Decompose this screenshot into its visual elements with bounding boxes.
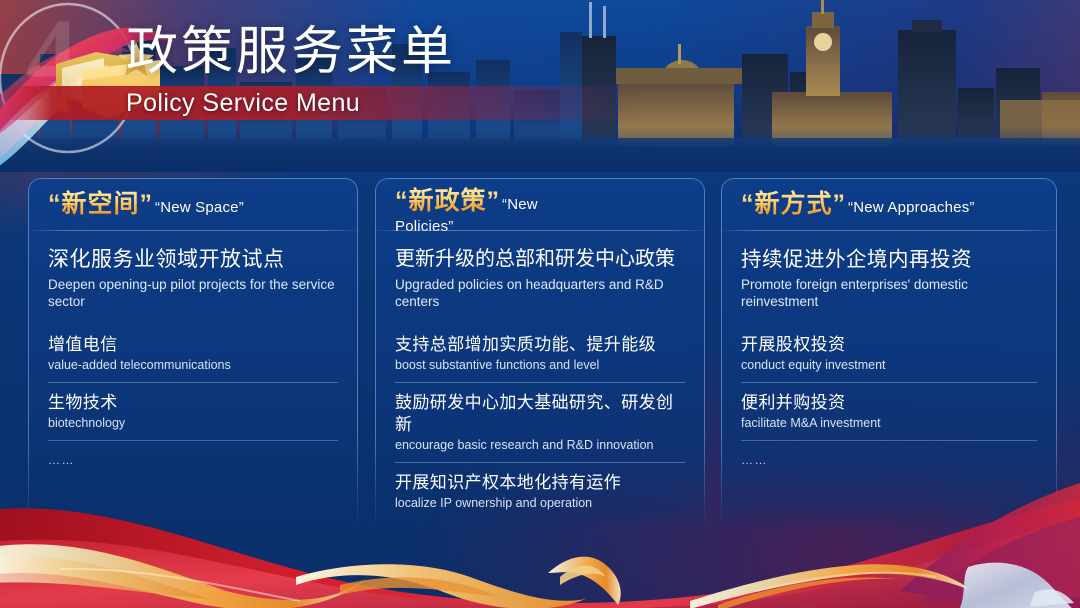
list-item-en: facilitate M&A investment — [741, 415, 1037, 431]
list-item-cn: 便利并购投资 — [741, 392, 1037, 414]
card-header-divider — [721, 230, 1057, 231]
list-item-en: encourage basic research and R&D innovat… — [395, 437, 685, 453]
card-lead-en: Promote foreign enterprises' domestic re… — [741, 276, 1037, 310]
header-banner: 4 — [0, 0, 1080, 172]
list-item-cn: 鼓励研发中心加大基础研究、研发创新 — [395, 392, 685, 436]
card-title-en: “New Approaches” — [848, 199, 975, 216]
list-item-cn: 生物技术 — [48, 392, 338, 414]
card-lead-cn: 更新升级的总部和研发中心政策 — [395, 246, 685, 273]
card-title-en: “New Space” — [155, 199, 244, 216]
card-header: “新空间”“New Space” — [28, 178, 358, 230]
card-lead-en: Upgraded policies on headquarters and R&… — [395, 276, 685, 310]
list-item-cn: 支持总部增加实质功能、提升能级 — [395, 334, 685, 356]
card-title-cn: “新空间” — [48, 190, 153, 218]
silk-ribbon-decoration — [0, 473, 1080, 608]
list-item-cn: 增值电信 — [48, 334, 338, 356]
list-item-cn: 开展股权投资 — [741, 334, 1037, 356]
slide-title-en: Policy Service Menu — [126, 88, 360, 119]
list-item[interactable]: 便利并购投资 facilitate M&A investment — [741, 382, 1037, 440]
card-header-divider — [28, 230, 358, 231]
card-lead-cn: 深化服务业领域开放试点 — [48, 246, 338, 273]
card-body: 持续促进外企境内再投资 Promote foreign enterprises'… — [721, 230, 1057, 469]
presentation-slide: 4 — [0, 0, 1080, 608]
list-ellipsis-row: …… — [48, 440, 338, 469]
list-item[interactable]: 支持总部增加实质功能、提升能级 boost substantive functi… — [395, 334, 685, 382]
slide-title-cn: 政策服务菜单 — [126, 22, 456, 82]
list-ellipsis: …… — [48, 453, 75, 467]
card-body: 深化服务业领域开放试点 Deepen opening-up pilot proj… — [28, 230, 358, 469]
card-item-list: 开展股权投资 conduct equity investment 便利并购投资 … — [741, 334, 1037, 469]
list-item-en: value-added telecommunications — [48, 357, 338, 373]
card-title-cn: “新政策” — [395, 187, 500, 215]
card-header-divider — [375, 230, 705, 231]
list-item[interactable]: 生物技术 biotechnology — [48, 382, 338, 440]
list-item-en: boost substantive functions and level — [395, 357, 685, 373]
list-item[interactable]: 增值电信 value-added telecommunications — [48, 334, 338, 382]
card-item-list: 增值电信 value-added telecommunications 生物技术… — [48, 334, 338, 469]
list-item-en: conduct equity investment — [741, 357, 1037, 373]
list-item-en: biotechnology — [48, 415, 338, 431]
list-item[interactable]: 开展股权投资 conduct equity investment — [741, 334, 1037, 382]
list-ellipsis: …… — [741, 453, 768, 467]
card-lead-en: Deepen opening-up pilot projects for the… — [48, 276, 338, 310]
list-ellipsis-row: …… — [741, 440, 1037, 469]
card-lead-cn: 持续促进外企境内再投资 — [741, 246, 1037, 273]
list-item[interactable]: 鼓励研发中心加大基础研究、研发创新 encourage basic resear… — [395, 382, 685, 462]
card-title-cn: “新方式” — [741, 190, 846, 218]
card-header: “新方式”“New Approaches” — [721, 178, 1057, 230]
card-header: “新政策”“New Policies” — [375, 178, 705, 230]
